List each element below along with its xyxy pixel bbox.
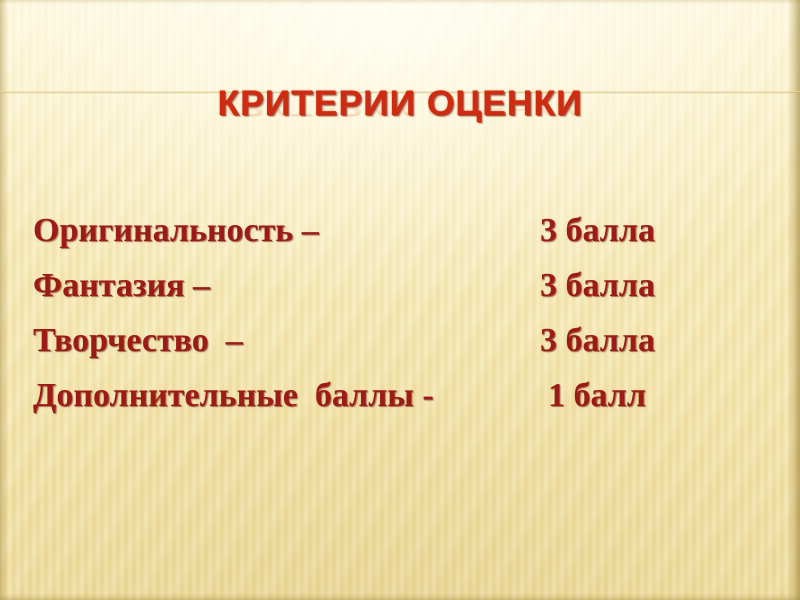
criteria-value: 1 балл [548, 377, 646, 415]
top-edge-shading [0, 0, 800, 4]
criteria-value: 3 балла [540, 212, 655, 250]
criteria-value: 3 балла [540, 267, 655, 305]
bottom-edge-shading [0, 593, 800, 600]
criteria-label: Фантазия – [33, 267, 210, 305]
criteria-list: Оригинальность – 3 балла Фантазия – 3 ба… [0, 205, 800, 425]
criteria-row-originality: Оригинальность – 3 балла [0, 205, 800, 260]
criteria-row-fantasy: Фантазия – 3 балла [0, 260, 800, 315]
criteria-label: Оригинальность – [33, 212, 319, 250]
slide-title-text: КРИТЕРИИ ОЦЕНКИ [217, 86, 582, 121]
criteria-row-bonus-points: Дополнительные баллы - 1 балл [0, 370, 800, 425]
criteria-row-creativity: Творчество – 3 балла [0, 315, 800, 370]
slide-title: КРИТЕРИИ ОЦЕНКИ [0, 86, 800, 121]
slide-canvas: КРИТЕРИИ ОЦЕНКИ КРИТЕРИИ ОЦЕНКИ Оригинал… [0, 0, 800, 600]
criteria-label: Дополнительные баллы - [33, 377, 434, 415]
criteria-label: Творчество – [33, 322, 243, 360]
criteria-value: 3 балла [540, 322, 655, 360]
